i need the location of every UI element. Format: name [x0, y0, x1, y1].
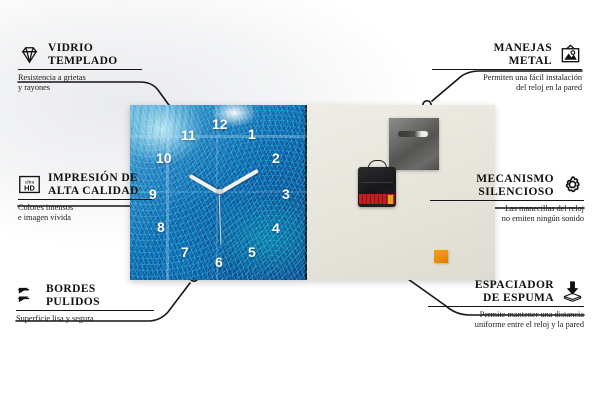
callout-rule: [16, 310, 154, 311]
callout-title-line2: METAL: [494, 55, 552, 68]
clock-numeral-7: 7: [181, 245, 189, 259]
grid-line-h1: [130, 135, 307, 138]
callout-sub-line1: Permite mantener una distancia: [428, 310, 584, 320]
callout-sub-line2: uniforme entre el reloj y la pared: [428, 320, 584, 330]
clock-numeral-1: 1: [248, 127, 256, 141]
infographic-canvas: 12 1 2 3 4 5 6 7 8 9 10 11: [0, 0, 600, 400]
ultra-hd-icon: ultra HD: [18, 173, 41, 196]
callout-sub-line1: Resistencia a grietas: [18, 73, 168, 83]
clock-numeral-12: 12: [212, 117, 228, 131]
callout-vidrio-templado: VIDRIO TEMPLADO Resistencia a grietas y …: [18, 42, 168, 93]
clock-numeral-6: 6: [215, 255, 223, 269]
arrow-onto-pad-icon: [561, 280, 584, 303]
clock-center-cap: [217, 189, 222, 194]
clock-numeral-4: 4: [272, 221, 280, 235]
callout-espaciador-espuma: ESPACIADOR DE ESPUMA Permite mantener un…: [428, 279, 584, 330]
callout-sub-line2: no emiten ningún sonido: [430, 214, 584, 224]
diamond-icon: [18, 43, 41, 66]
callout-mecanismo-silencioso: MECANISMO SILENCIOSO Las manecillas del …: [430, 173, 584, 224]
mechanism-seam: [361, 182, 393, 183]
callout-title-line2: ALTA CALIDAD: [48, 185, 139, 198]
callout-sub-line1: Permiten una fácil instalación: [432, 73, 582, 83]
callout-title-line1: MANEJAS: [494, 42, 552, 55]
callout-title-line1: VIDRIO: [48, 42, 118, 55]
callout-title-line2: TEMPLADO: [48, 55, 118, 68]
clock-numeral-5: 5: [248, 245, 256, 259]
callout-impresion-alta-calidad: ultra HD IMPRESIÓN DE ALTA CALIDAD Color…: [18, 172, 178, 223]
callout-sub-line1: Las manecillas del reloj: [430, 204, 584, 214]
callout-title-line2: PULIDOS: [46, 296, 100, 309]
metal-hanger-plate: [389, 118, 439, 170]
callout-sub-line1: Superficie lisa y segura: [16, 314, 176, 324]
callout-rule: [18, 69, 142, 70]
callout-sub-line2: del reloj en la pared: [432, 83, 582, 93]
picture-frame-icon: [559, 43, 582, 66]
gear-icon: [561, 174, 584, 197]
callout-rule: [430, 200, 584, 201]
svg-text:HD: HD: [24, 183, 35, 192]
callout-title-line1: BORDES: [46, 283, 100, 296]
clock-numeral-3: 3: [282, 187, 290, 201]
hanger-slot: [398, 131, 428, 137]
mechanism-hook: [368, 160, 387, 170]
callout-sub-line1: Colores intensos: [18, 203, 178, 213]
foam-spacer: [434, 250, 448, 263]
callout-manejas-metal: MANEJAS METAL Permiten una fácil instala…: [432, 42, 582, 93]
callout-title-line2: DE ESPUMA: [475, 292, 554, 305]
clock-numeral-10: 10: [156, 151, 172, 165]
callout-rule: [18, 199, 152, 200]
callout-rule: [432, 69, 582, 70]
callout-rule: [428, 306, 584, 307]
clock-numeral-2: 2: [272, 151, 280, 165]
quartz-mechanism: [358, 167, 396, 207]
callout-sub-line2: y rayones: [18, 83, 168, 93]
clock-numeral-11: 11: [181, 128, 196, 142]
polished-edges-icon: [16, 284, 39, 307]
callout-sub-line2: e imagen vívida: [18, 213, 178, 223]
callout-title-line2: SILENCIOSO: [476, 186, 554, 199]
callout-title-line1: ESPACIADOR: [475, 279, 554, 292]
callout-title-line1: MECANISMO: [476, 173, 554, 186]
callout-bordes-pulidos: BORDES PULIDOS Superficie lisa y segura: [16, 283, 176, 324]
mechanism-chip: [388, 195, 393, 204]
callout-title-line1: IMPRESIÓN DE: [48, 172, 139, 185]
